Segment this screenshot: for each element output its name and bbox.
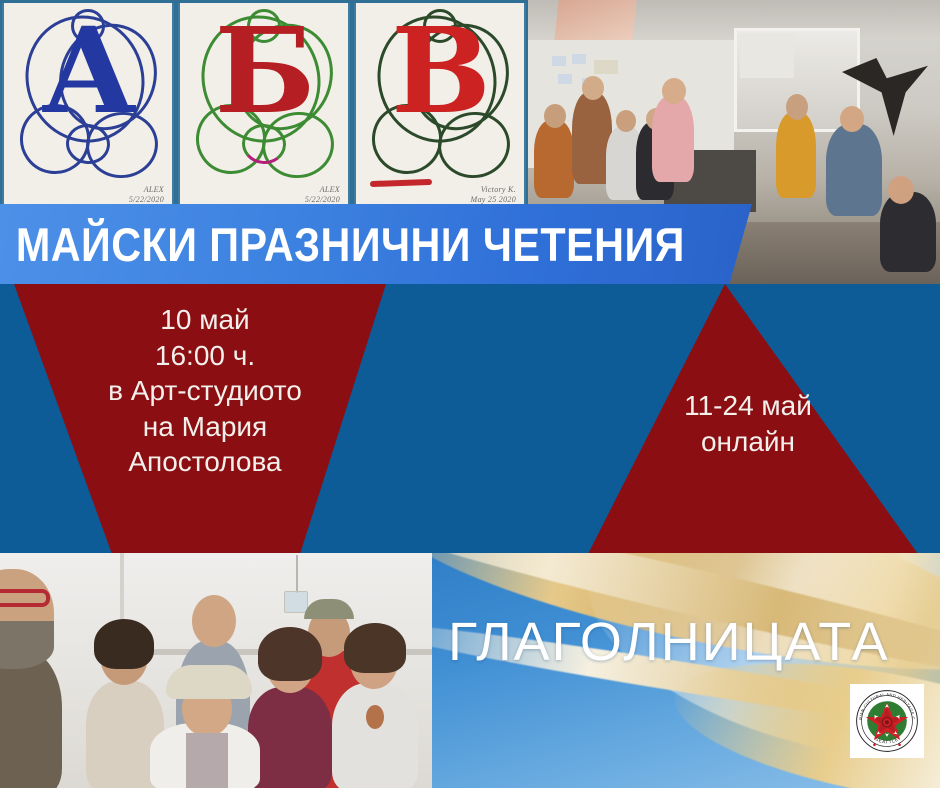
photo-wall-note bbox=[572, 54, 586, 64]
photo-person bbox=[332, 683, 418, 788]
brand-panel: ГЛАГОЛНИЦАТА bbox=[432, 553, 940, 788]
photo-person bbox=[776, 112, 816, 198]
page-title: МАЙСКИ ПРАЗНИЧНИ ЧЕТЕНИЯ bbox=[0, 221, 685, 268]
photo-hair bbox=[258, 627, 322, 681]
photo-hair bbox=[344, 623, 406, 673]
left-event-details: 10 май 16:00 ч. в Арт-студиото на Мария … bbox=[60, 302, 350, 480]
photo-person-head bbox=[840, 106, 864, 132]
left-event-line-1: 10 май bbox=[60, 302, 350, 338]
organization-logo[interactable]: BULGARIAN CULTURAL AND HERITAGE CENTER S… bbox=[850, 684, 924, 758]
photo-person-head bbox=[888, 176, 914, 204]
bottom-row: ГЛАГОЛНИЦАТА bbox=[0, 553, 940, 788]
left-event-line-3: в Арт-студиото bbox=[60, 373, 350, 409]
calligraphy-signature: ALEX 5/22/2020 bbox=[129, 185, 164, 205]
calligraphy-letter: Б bbox=[180, 9, 348, 133]
red-underline-mark bbox=[370, 179, 432, 187]
right-event-line-2: онлайн bbox=[632, 424, 864, 460]
photo-person bbox=[534, 120, 574, 198]
seal-icon: BULGARIAN CULTURAL AND HERITAGE CENTER S… bbox=[854, 688, 920, 754]
photo-wall-note bbox=[552, 56, 566, 66]
photo-person bbox=[880, 192, 936, 272]
photo-person bbox=[0, 649, 62, 788]
calligraphy-letter: А bbox=[4, 9, 172, 133]
calligraphy-card-v: В Victory K. May 25 2020 bbox=[354, 3, 526, 208]
photo-wall-note bbox=[558, 74, 572, 84]
photo-sun-hat bbox=[166, 665, 252, 699]
signature-name: ALEX bbox=[305, 185, 340, 195]
photo-pendant-necklace bbox=[366, 705, 384, 729]
right-event-line-1: 11-24 май bbox=[632, 388, 864, 424]
signature-name: ALEX bbox=[129, 185, 164, 195]
calligraphy-letter: В bbox=[356, 9, 524, 133]
photo-hair bbox=[94, 619, 154, 669]
photo-person-head bbox=[616, 110, 636, 132]
photo-person-head bbox=[582, 76, 604, 100]
event-poster: А ALEX 5/22/2020 Б ALEX 5/22/2020 bbox=[0, 0, 940, 788]
photo-lamp-rod bbox=[296, 555, 298, 593]
photo-person-head bbox=[192, 595, 236, 647]
photo-person bbox=[652, 96, 694, 182]
calligraphy-signature: Victory K. May 25 2020 bbox=[470, 185, 516, 205]
photo-person-head bbox=[662, 78, 686, 104]
calligraphy-card-b: Б ALEX 5/22/2020 bbox=[178, 3, 350, 208]
calligraphy-card-a: А ALEX 5/22/2020 bbox=[2, 3, 174, 208]
brand-wordmark: ГЛАГОЛНИЦАТА bbox=[448, 611, 889, 673]
photo-wall-note bbox=[594, 60, 618, 74]
photo-cap bbox=[304, 599, 354, 619]
right-event-details: 11-24 май онлайн bbox=[632, 388, 864, 459]
signature-name: Victory K. bbox=[470, 185, 516, 195]
signature-date: May 25 2020 bbox=[470, 195, 516, 205]
photo-scarf bbox=[186, 733, 228, 788]
photo-person bbox=[248, 687, 332, 788]
left-event-line-5: Апостолова bbox=[60, 444, 350, 480]
signature-date: 5/22/2020 bbox=[129, 195, 164, 205]
left-event-line-2: 16:00 ч. bbox=[60, 338, 350, 374]
calligraphy-gallery: А ALEX 5/22/2020 Б ALEX 5/22/2020 bbox=[0, 0, 528, 208]
signature-date: 5/22/2020 bbox=[305, 195, 340, 205]
group-portrait-photo bbox=[0, 553, 432, 788]
photo-ceiling bbox=[150, 553, 432, 571]
photo-person-head bbox=[544, 104, 566, 128]
photo-glass-partition bbox=[740, 34, 794, 78]
photo-person bbox=[826, 124, 882, 216]
left-event-line-4: на Мария bbox=[60, 409, 350, 445]
calligraphy-signature: ALEX 5/22/2020 bbox=[305, 185, 340, 205]
eyeglasses-icon bbox=[0, 589, 50, 607]
poster-title-banner: МАЙСКИ ПРАЗНИЧНИ ЧЕТЕНИЯ bbox=[0, 204, 752, 284]
photo-pendant-lamp bbox=[284, 591, 308, 613]
photo-person-head bbox=[786, 94, 808, 120]
